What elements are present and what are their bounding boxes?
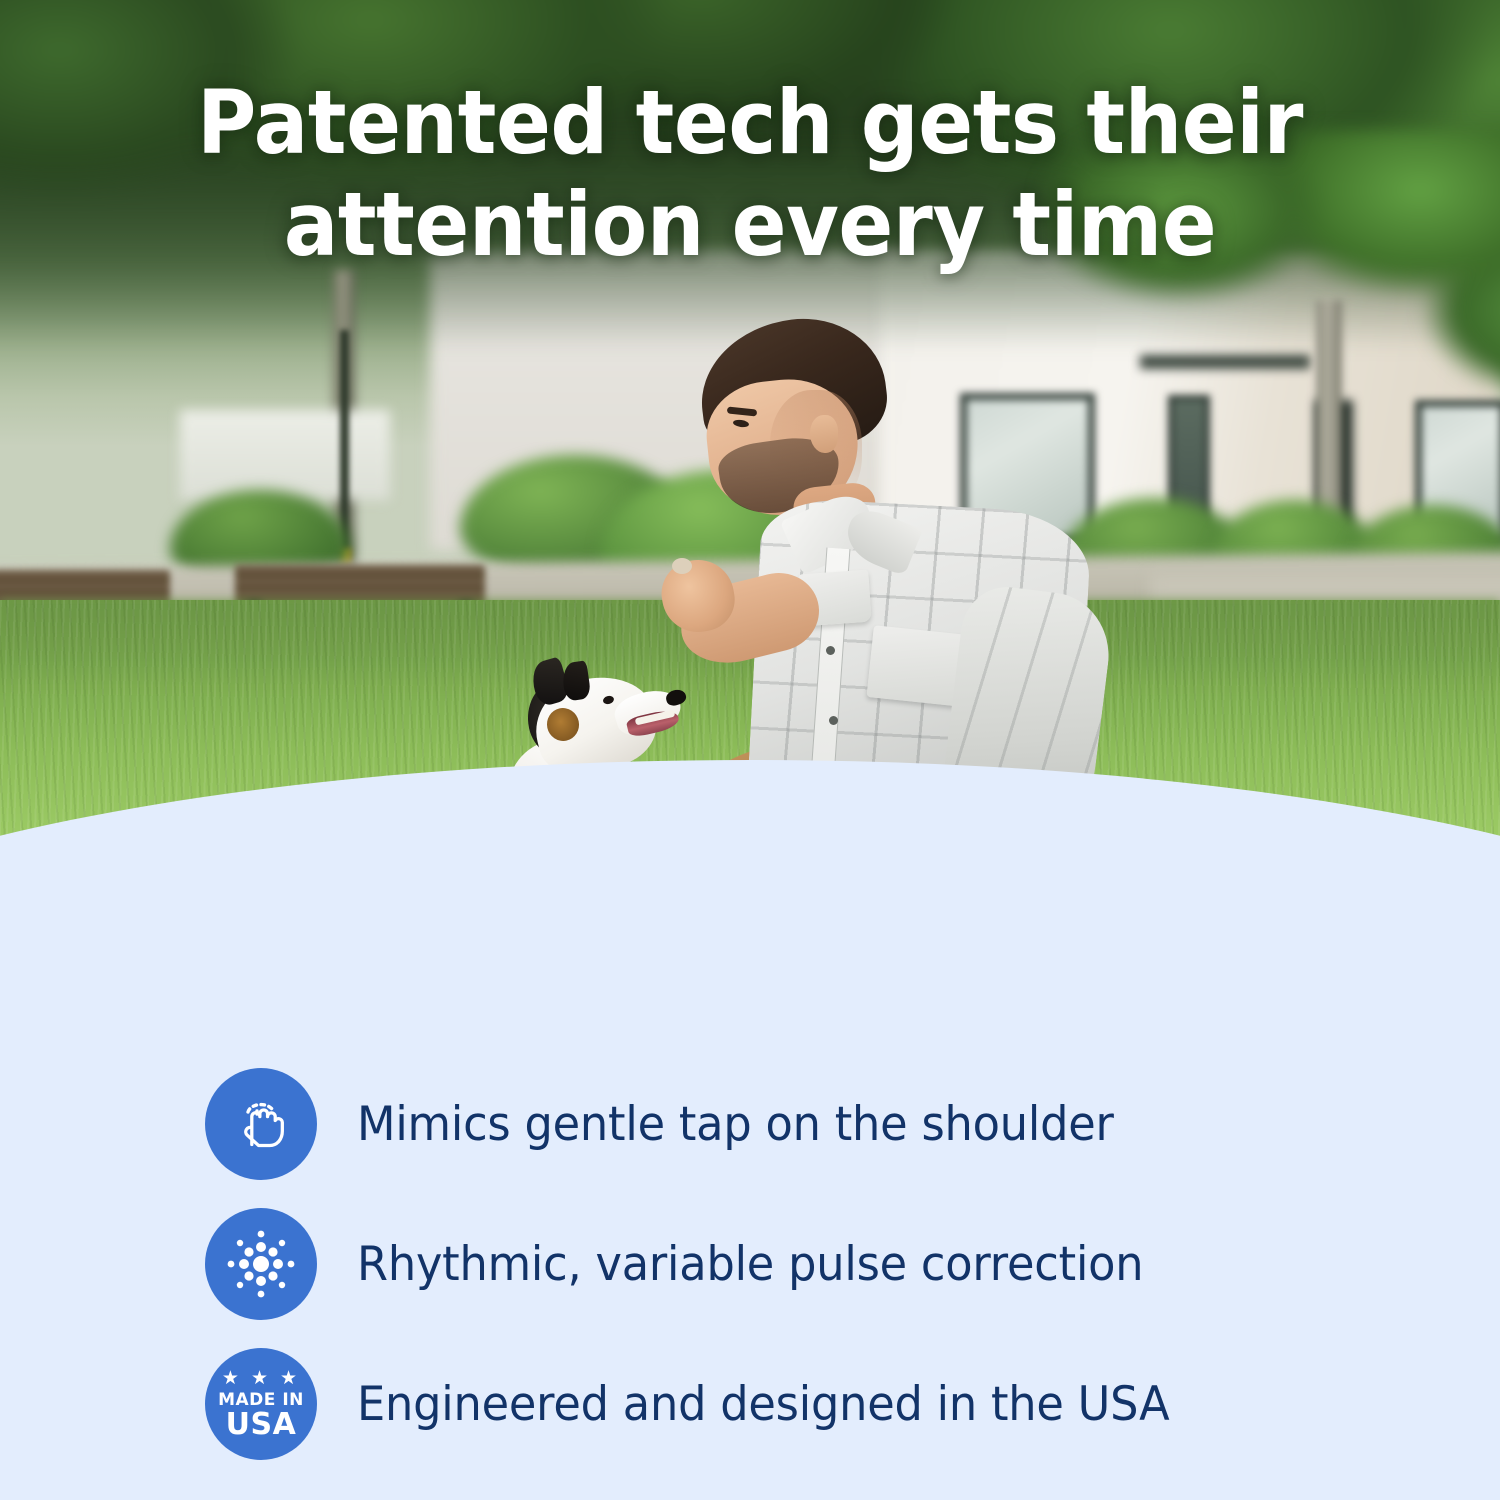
marketing-product-card: Patented tech gets their attention every… xyxy=(0,0,1500,1500)
feature-item-tap: Mimics gentle tap on the shoulder xyxy=(0,1054,1500,1194)
feature-label-usa: Engineered and designed in the USA xyxy=(357,1377,1170,1432)
feature-item-pulse: Rhythmic, variable pulse correction xyxy=(0,1194,1500,1334)
feature-label-tap: Mimics gentle tap on the shoulder xyxy=(357,1097,1114,1152)
feature-label-pulse: Rhythmic, variable pulse correction xyxy=(357,1237,1143,1292)
tap-hand-icon xyxy=(205,1068,317,1180)
man-ear xyxy=(810,415,838,453)
made-in-usa-icon: ★ ★ ★ MADE IN USA xyxy=(205,1348,317,1460)
pulse-burst-icon xyxy=(205,1208,317,1320)
page-title: Patented tech gets their attention every… xyxy=(60,72,1440,276)
shirt-button xyxy=(826,646,835,655)
usa-badge: ★ ★ ★ MADE IN USA xyxy=(205,1348,317,1460)
feature-list: Mimics gentle tap on the shoulder xyxy=(0,1040,1500,1474)
white-fence xyxy=(180,410,390,500)
feature-item-usa: ★ ★ ★ MADE IN USA Engineered and designe… xyxy=(0,1334,1500,1474)
shirt-button xyxy=(829,716,838,725)
usa-text: USA xyxy=(226,1410,297,1440)
usa-stars: ★ ★ ★ xyxy=(222,1369,300,1388)
headline-line-1: Patented tech gets their xyxy=(197,71,1303,174)
dog-treat xyxy=(672,558,692,574)
usa-made-in-text: MADE IN xyxy=(218,1392,304,1409)
headline-line-2: attention every time xyxy=(60,174,1440,276)
